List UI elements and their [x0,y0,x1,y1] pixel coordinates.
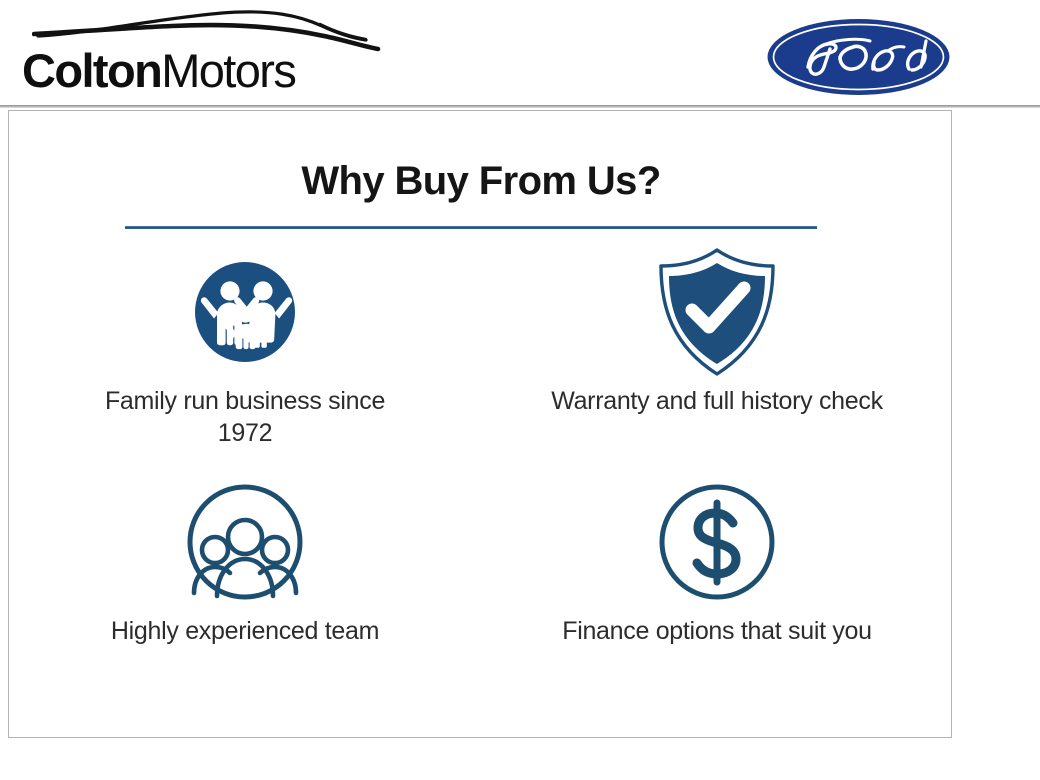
brand-name-secondary: Motors [161,44,295,97]
feature-label: Family run business since 1972 [80,385,410,449]
feature-label: Highly experienced team [80,615,410,647]
header-divider [0,105,1040,108]
dollar-sign-circle-icon [658,483,776,601]
ford-oval-logo[interactable] [766,17,951,97]
page-header: ColtonMotors [0,0,1040,107]
page-title: Why Buy From Us? [9,159,953,204]
family-group-icon [193,260,297,364]
why-buy-panel: Why Buy From Us? [8,110,952,738]
shield-checkmark-icon [655,246,779,378]
feature-item-family[interactable]: Family run business since 1972 [9,259,481,489]
feature-icon-wrap [655,259,779,365]
feature-item-warranty[interactable]: Warranty and full history check [481,259,953,489]
feature-label: Warranty and full history check [547,385,887,417]
feature-item-finance[interactable]: Finance options that suit you [481,489,953,719]
team-people-circle-icon [186,483,304,601]
colton-motors-logo[interactable]: ColtonMotors [22,6,392,102]
brand-name-primary: Colton [22,44,161,97]
feature-icon-wrap [193,259,297,365]
feature-icon-wrap [658,489,776,595]
feature-item-team[interactable]: Highly experienced team [9,489,481,719]
feature-label: Finance options that suit you [547,615,887,647]
brand-wordmark: ColtonMotors [22,42,392,100]
feature-icon-wrap [186,489,304,595]
feature-grid: Family run business since 1972 Warranty … [9,259,953,719]
title-underline-rule [125,226,817,229]
